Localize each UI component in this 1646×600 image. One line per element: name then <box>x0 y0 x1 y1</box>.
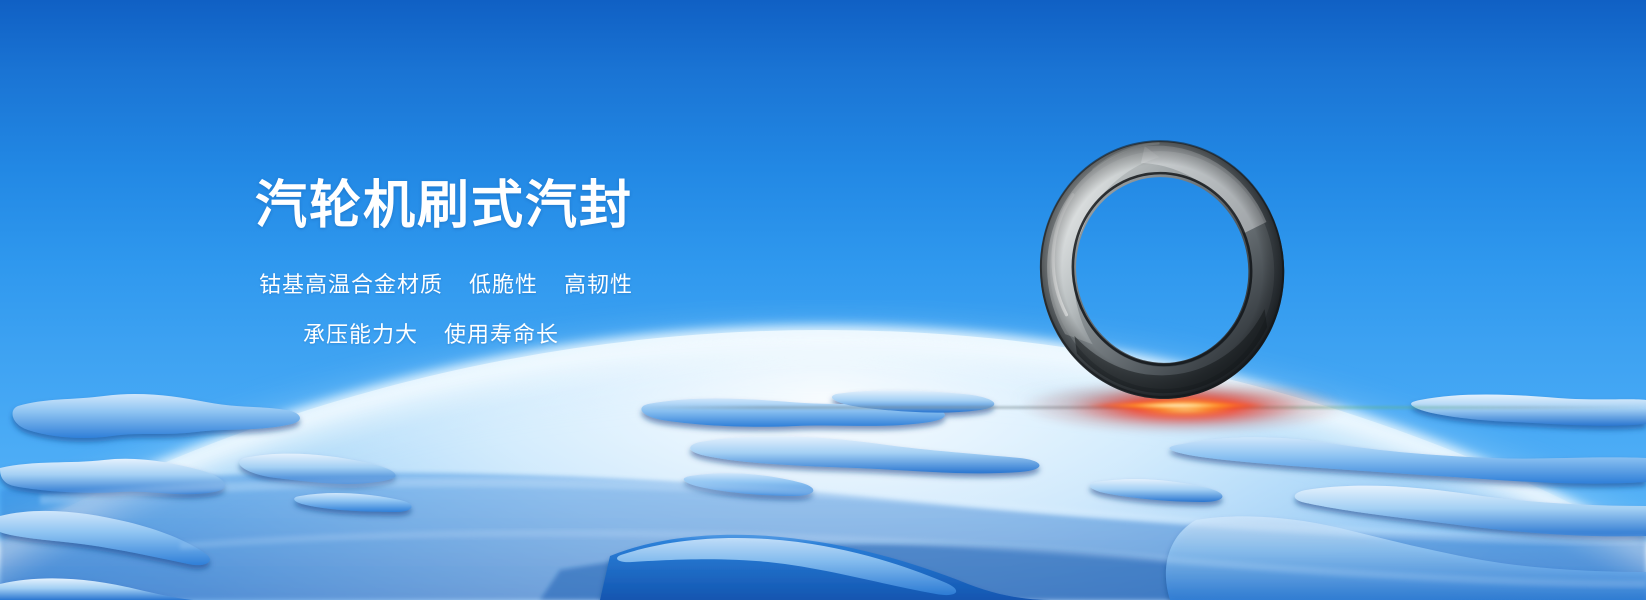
subtitle-line-2: 承压能力大使用寿命长 <box>255 320 895 350</box>
feature-high-toughness: 高韧性 <box>564 272 633 297</box>
ring-geometry <box>1036 137 1288 402</box>
atmosphere-haze <box>0 318 1646 600</box>
feature-low-brittleness: 低脆性 <box>469 272 538 297</box>
feature-long-service-life: 使用寿命长 <box>444 322 559 347</box>
brush-seal-ring-image <box>1036 137 1288 402</box>
page-title: 汽轮机刷式汽封 <box>255 176 895 236</box>
ring-ambient-occlusion <box>1036 137 1288 402</box>
feature-pressure-capacity: 承压能力大 <box>303 322 418 347</box>
feature-cobalt-alloy: 钴基高温合金材质 <box>259 272 443 297</box>
product-banner: 汽轮机刷式汽封 钴基高温合金材质低脆性高韧性 承压能力大使用寿命长 <box>0 0 1646 600</box>
red-glow-core <box>1085 401 1270 410</box>
subtitle-line-1: 钴基高温合金材质低脆性高韧性 <box>255 270 895 300</box>
banner-text-block: 汽轮机刷式汽封 钴基高温合金材质低脆性高韧性 承压能力大使用寿命长 <box>255 176 895 350</box>
